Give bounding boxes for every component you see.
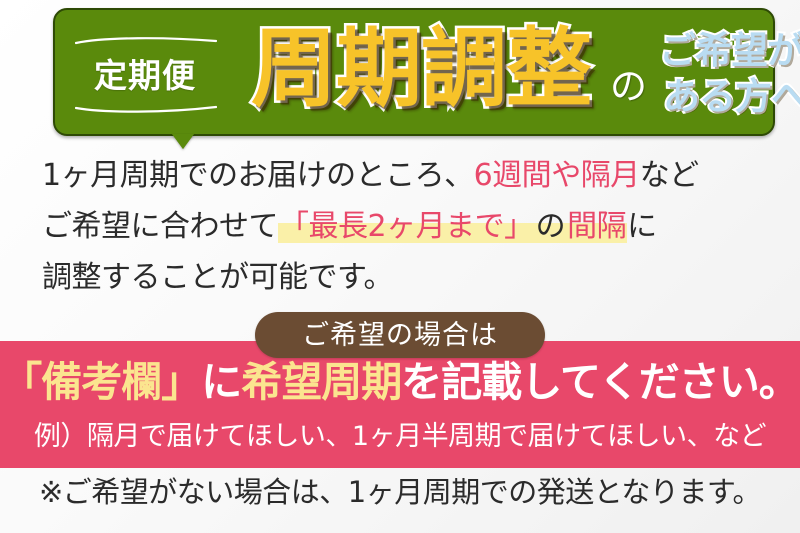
request-case-pill-badge: ご希望の場合は — [255, 312, 545, 358]
body-l2-seg2: に — [627, 209, 657, 244]
banner-subtitle-line1: ご希望が — [659, 32, 800, 70]
pink-main-seg4: を記載してください。 — [401, 358, 799, 406]
pink-band-main-text: 「備考欄」に希望周期を記載してください。 — [0, 362, 800, 403]
banner-page: 定期便 周期調整 の ご希望が ある方へ 1ヶ月周期でのお届けのところ、6週間や… — [0, 0, 800, 533]
green-header-banner: 定期便 周期調整 の ご希望が ある方へ — [53, 8, 775, 136]
pink-main-remarks-field: 「備考欄」 — [1, 358, 201, 406]
pink-band-example-text: 例）隔月で届けてほしい、1ヶ月半周期で届けてほしい、など — [0, 423, 800, 450]
body-line-1: 1ヶ月周期でのお届けのところ、6週間や隔月など — [42, 150, 772, 201]
teikibin-label: 定期便 — [94, 59, 196, 92]
body-l1-seg3: など — [640, 158, 699, 193]
pink-main-seg2: に — [201, 358, 241, 406]
bottom-disclaimer-note: ※ご希望がない場合は、1ヶ月周期での発送となります。 — [0, 478, 800, 507]
banner-subtitle-block: ご希望が ある方へ — [659, 32, 800, 115]
body-l1-seg1: 1ヶ月周期でのお届けのところ、 — [42, 158, 474, 193]
body-l2-marked-maxtwomonths: 「最長2ヶ月まで」 — [278, 209, 535, 244]
body-l1-highlight-everyother: 隔月 — [581, 158, 640, 193]
wave-rule-top-icon — [75, 36, 217, 46]
banner-title: 周期調整 — [251, 26, 591, 112]
banner-title-particle: の — [610, 68, 647, 105]
body-line-2: ご希望に合わせて「最長2ヶ月まで」の間隔に — [42, 201, 772, 252]
pill-label: ご希望の場合は — [302, 322, 498, 349]
pink-main-desired-cycle: 希望周期 — [241, 358, 401, 406]
body-l2-marked-no: の — [535, 209, 567, 244]
body-l1-seg2: や — [551, 158, 581, 193]
banner-subtitle-line2: ある方へ — [663, 78, 800, 116]
body-paragraph: 1ヶ月周期でのお届けのところ、6週間や隔月など ご希望に合わせて「最長2ヶ月まで… — [42, 150, 772, 303]
body-line-3: 調整することが可能です。 — [42, 252, 772, 303]
body-l1-highlight-6weeks: 6週間 — [474, 158, 552, 193]
body-l2-marked-interval: 間隔 — [566, 209, 627, 244]
wave-rule-bottom-icon — [75, 104, 217, 114]
banner-pointer-tail — [172, 134, 194, 149]
body-l2-seg1: ご希望に合わせて — [42, 209, 278, 244]
teikibin-badge: 定期便 — [75, 40, 215, 110]
